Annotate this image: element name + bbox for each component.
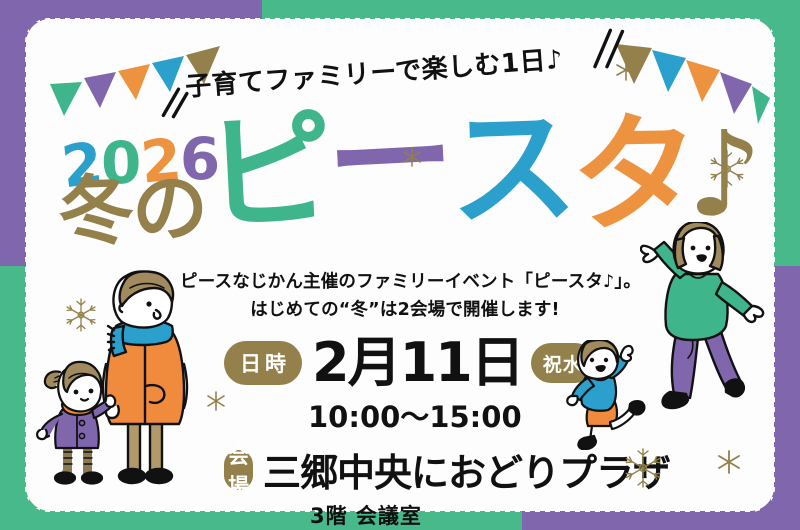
snowflake-icon-1	[706, 148, 748, 194]
sparkle-icon-1	[614, 58, 638, 86]
poster-root: 子育てファミリーで楽しむ1日♪ 2026 冬の ピースタ♪ ピースなじかん主催の…	[0, 0, 800, 530]
description-line-1: ピースなじかん主催のファミリーイベント「ピースタ♪」。	[180, 268, 630, 296]
title-char-0: ピ	[202, 107, 331, 241]
date-badge: 日時	[224, 341, 302, 385]
sparkle-icon-3	[205, 390, 227, 416]
description: ピースなじかん主催のファミリーイベント「ピースタ♪」。 はじめての“冬”は2会場…	[180, 268, 630, 325]
season-text: 冬の	[57, 169, 208, 250]
venue-badge: 会場	[224, 450, 253, 490]
venue-sub: 3階 会議室	[310, 500, 654, 530]
title-char-1: ー	[323, 95, 452, 229]
date-value: 2月11日	[312, 336, 523, 390]
sparkle-icon-4	[715, 448, 743, 480]
illustration-jumping-boy	[566, 340, 666, 454]
illustration-parent-and-child	[36, 268, 196, 498]
slash-left-icon	[158, 84, 191, 124]
title-char-2: ス	[447, 104, 573, 236]
sparkle-icon-2	[401, 146, 423, 172]
main-title: ピースタ♪	[205, 104, 762, 232]
description-line-2: はじめての“冬”は2会場で開催します!	[180, 296, 630, 324]
